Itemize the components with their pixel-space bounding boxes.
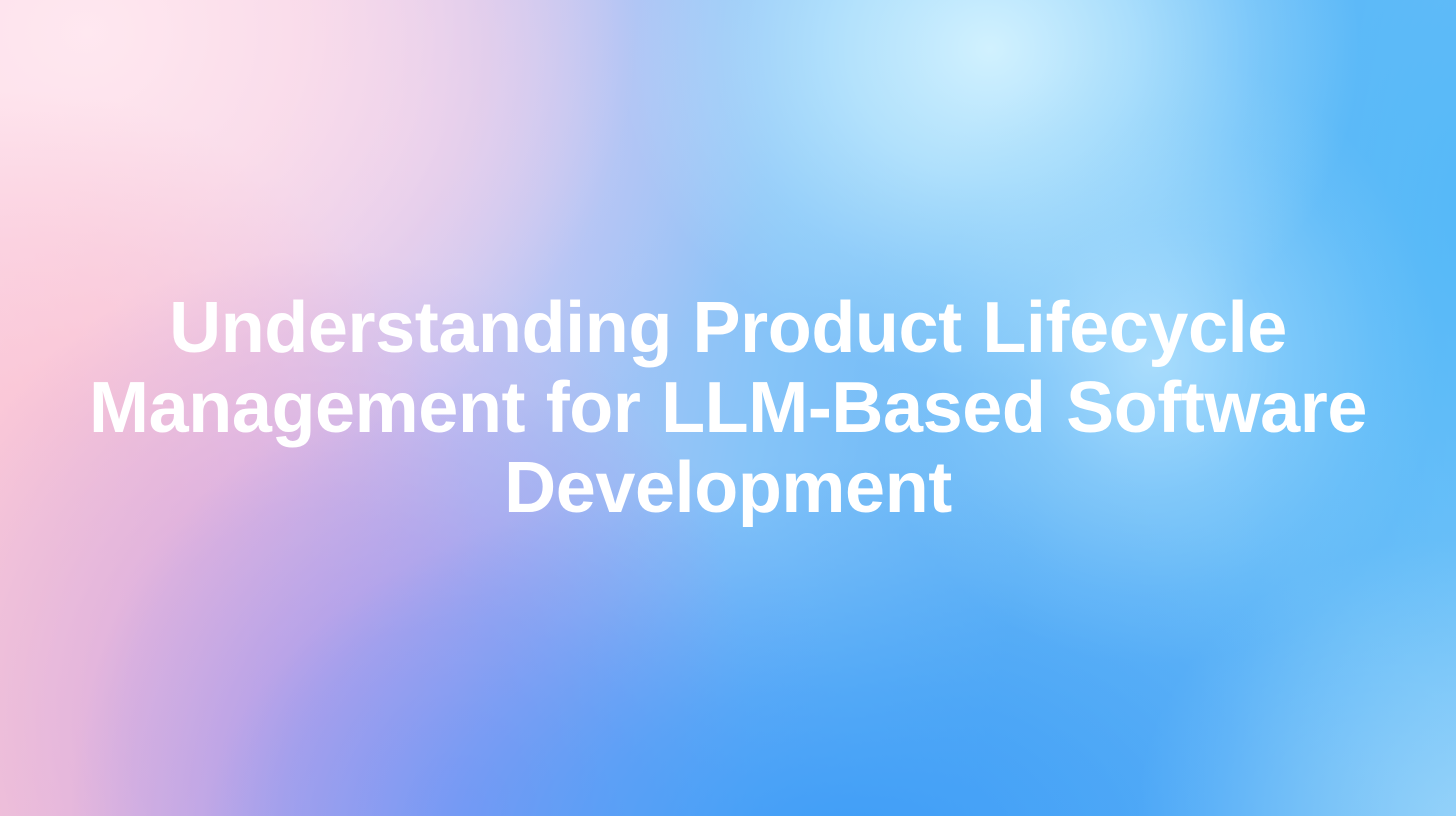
title-card: Understanding Product Lifecycle Manageme… bbox=[0, 0, 1456, 816]
page-title: Understanding Product Lifecycle Manageme… bbox=[0, 288, 1456, 528]
